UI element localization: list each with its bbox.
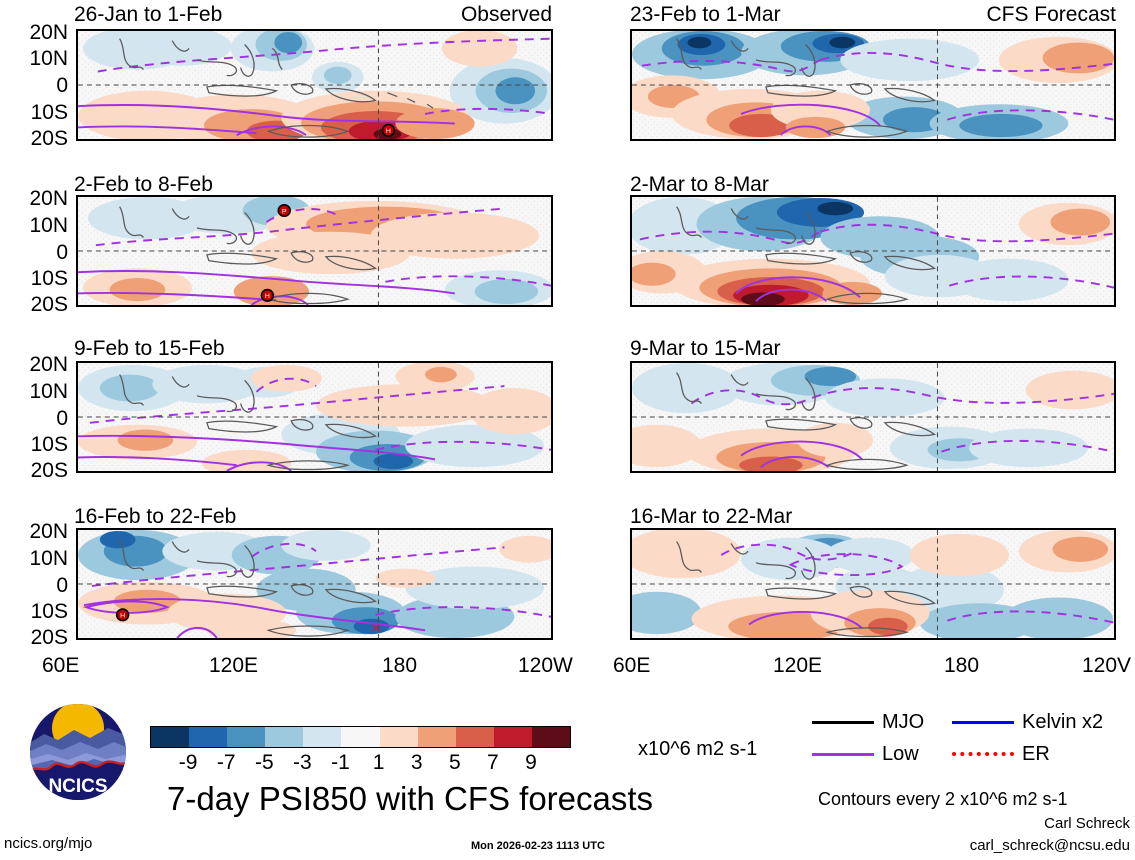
tc-marker: H (261, 290, 273, 302)
timestamp: Mon 2026-02-23 1113 UTC (471, 841, 605, 852)
contour-note: Contours every 2 x10^6 m2 s-1 (818, 790, 1068, 808)
ytick-20S-r1: 20S (0, 294, 68, 315)
legend-swatch-mjo (812, 721, 874, 724)
xtick-right-180: 180 (944, 655, 979, 676)
xtick-left-120W: 120W (518, 655, 573, 676)
colorbar-swatch-10 (532, 727, 570, 747)
xtick-right-120W: 120V (1082, 655, 1131, 676)
ytick-0-r0: 0 (0, 75, 68, 96)
colorbar-swatch-7 (418, 727, 456, 747)
legend-swatch-er (952, 752, 1014, 756)
colorbar-tick-9: 9 (506, 752, 556, 773)
ytick-10S-r1: 10S (0, 268, 68, 289)
ytick-0-r2: 0 (0, 408, 68, 429)
legend-label-mjo: MJO (882, 712, 924, 732)
legend-label-kelvin: Kelvin x2 (1022, 712, 1103, 732)
ytick-20S-r2: 20S (0, 460, 68, 481)
panel-title-fc-4: 16-Mar to 22-Mar (630, 506, 792, 527)
legend-item-kelvin: Kelvin x2 (952, 712, 1103, 732)
colorbar-swatch-5 (341, 727, 379, 747)
colorbar-swatch-9 (494, 727, 532, 747)
colorbar-swatch-8 (456, 727, 494, 747)
colorbar-swatch-3 (265, 727, 303, 747)
ytick-10S-r3: 10S (0, 601, 68, 622)
ytick-10N-r1: 10N (0, 215, 68, 236)
tc-marker: P (278, 205, 290, 217)
colorbar (150, 726, 571, 748)
svg-text:H: H (386, 128, 391, 135)
tc-marker: H (117, 609, 129, 621)
xtick-left-120E: 120E (209, 655, 258, 676)
legend-swatch-low (812, 753, 874, 756)
panel-title-obs-3: 9-Feb to 15-Feb (74, 338, 225, 359)
tc-marker: H (382, 125, 394, 137)
legend-item-low: Low (812, 744, 919, 764)
panel-title-obs-4: 16-Feb to 22-Feb (74, 506, 236, 527)
ytick-20N-r3: 20N (0, 521, 68, 542)
xtick-left-60E: 60E (42, 655, 79, 676)
plot-obs-1[interactable]: H (76, 29, 553, 141)
svg-text:H: H (265, 293, 270, 300)
legend-label-er: ER (1022, 744, 1050, 764)
plot-obs-4[interactable]: H (76, 528, 553, 640)
panel-title-fc-2: 2-Mar to 8-Mar (630, 174, 769, 195)
ytick-0-r1: 0 (0, 242, 68, 263)
ytick-10N-r3: 10N (0, 548, 68, 569)
panel-title-fc-3: 9-Mar to 15-Mar (630, 338, 781, 359)
author-name: Carl Schreck (875, 816, 1130, 831)
plot-obs-3[interactable] (76, 361, 553, 473)
svg-text:P: P (282, 208, 287, 215)
author-email[interactable]: carl_schreck@ncsu.edu (875, 838, 1130, 853)
colorbar-swatch-6 (380, 727, 418, 747)
page-title: 7-day PSI850 with CFS forecasts (167, 782, 653, 815)
colorbar-swatch-2 (227, 727, 265, 747)
plot-fc-3[interactable] (630, 361, 1116, 473)
ytick-20S-r3: 20S (0, 627, 68, 648)
plot-obs-2[interactable]: P H (76, 195, 553, 307)
panel-title-fc-1: 23-Feb to 1-Mar (630, 4, 781, 25)
colorbar-units-label: x10^6 m2 s-1 (638, 739, 757, 759)
plot-fc-4[interactable] (630, 528, 1116, 640)
plot-fc-1[interactable] (630, 29, 1116, 141)
ytick-20N-r2: 20N (0, 354, 68, 375)
ytick-0-r3: 0 (0, 575, 68, 596)
legend-item-er: ER (952, 744, 1050, 764)
ytick-20N-r1: 20N (0, 188, 68, 209)
site-url[interactable]: ncics.org/mjo (4, 836, 92, 851)
colorbar-swatch-4 (303, 727, 341, 747)
column-header-observed: Observed (340, 4, 552, 25)
ytick-10N-r2: 10N (0, 381, 68, 402)
plot-fc-2[interactable] (630, 195, 1116, 307)
legend-label-low: Low (882, 744, 919, 764)
panel-title-obs-1: 26-Jan to 1-Feb (74, 4, 222, 25)
xtick-left-180: 180 (382, 655, 417, 676)
ytick-20S-r0: 20S (0, 128, 68, 149)
ytick-20N-r0: 20N (0, 22, 68, 43)
ytick-10S-r0: 10S (0, 102, 68, 123)
ytick-10S-r2: 10S (0, 434, 68, 455)
panel-title-obs-2: 2-Feb to 8-Feb (74, 174, 213, 195)
column-header-forecast: CFS Forecast (890, 4, 1116, 25)
ytick-10N-r0: 10N (0, 48, 68, 69)
svg-text:H: H (120, 613, 125, 620)
colorbar-swatch-0 (151, 727, 189, 747)
legend-item-mjo: MJO (812, 712, 924, 732)
ncics-logo: NCICS (28, 702, 128, 802)
xtick-right-60E: 60E (613, 655, 650, 676)
svg-text:NCICS: NCICS (48, 776, 107, 797)
legend-swatch-kelvin (952, 721, 1014, 724)
xtick-right-120E: 120E (773, 655, 822, 676)
colorbar-swatch-1 (189, 727, 227, 747)
